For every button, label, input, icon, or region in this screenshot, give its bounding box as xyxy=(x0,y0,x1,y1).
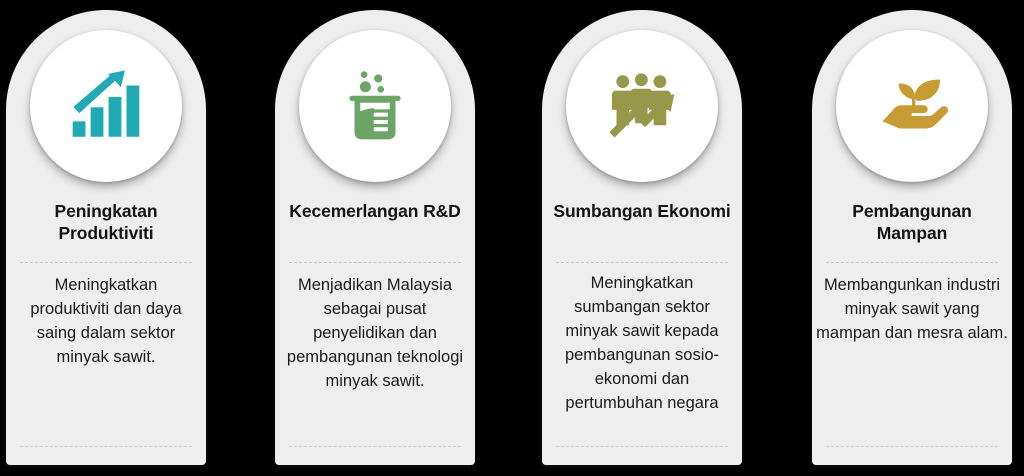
people-growth-arrow-icon xyxy=(601,65,683,147)
footer-divider xyxy=(289,446,461,447)
card-description: Meningkatkan sumbangan sektor minyak saw… xyxy=(546,272,738,416)
card-title: Kecemerlangan R&D xyxy=(275,200,475,222)
footer-divider xyxy=(556,446,728,447)
title-divider xyxy=(556,262,728,263)
bar-chart-growth-icon xyxy=(65,65,147,147)
card-description: Menjadikan Malaysia sebagai pusat penyel… xyxy=(283,274,467,394)
card-content: Sumbangan Ekonomi Meningkatkan sumbangan… xyxy=(542,10,742,465)
card-title: Sumbangan Ekonomi xyxy=(542,200,742,222)
card-content: Pembangunan Mampan Membangunkan industri… xyxy=(812,10,1012,465)
icon-circle-wrapper xyxy=(299,30,451,182)
icon-circle xyxy=(30,30,182,182)
icon-circle xyxy=(566,30,718,182)
icon-circle-wrapper xyxy=(836,30,988,182)
icon-circle-wrapper xyxy=(566,30,718,182)
info-card-kecemerlangan-rnd[interactable]: Kecemerlangan R&D Menjadikan Malaysia se… xyxy=(275,10,475,465)
info-card-pembangunan-mampan[interactable]: Pembangunan Mampan Membangunkan industri… xyxy=(812,10,1012,465)
card-title: Pembangunan Mampan xyxy=(812,200,1012,245)
title-divider xyxy=(826,262,998,263)
infographic-canvas: Peningkatan Produktiviti Meningkatkan pr… xyxy=(0,0,1024,476)
card-title: Peningkatan Produktiviti xyxy=(6,200,206,245)
card-content: Peningkatan Produktiviti Meningkatkan pr… xyxy=(6,10,206,465)
icon-circle xyxy=(836,30,988,182)
title-divider xyxy=(289,262,461,263)
info-card-peningkatan-produktiviti[interactable]: Peningkatan Produktiviti Meningkatkan pr… xyxy=(6,10,206,465)
footer-divider xyxy=(826,446,998,447)
icon-circle xyxy=(299,30,451,182)
info-card-sumbangan-ekonomi[interactable]: Sumbangan Ekonomi Meningkatkan sumbangan… xyxy=(542,10,742,465)
footer-divider xyxy=(20,446,192,447)
card-description: Meningkatkan produktiviti dan daya saing… xyxy=(14,274,198,370)
beaker-research-icon xyxy=(334,65,416,147)
icon-circle-wrapper xyxy=(30,30,182,182)
hand-sprout-icon xyxy=(871,65,953,147)
title-divider xyxy=(20,262,192,263)
card-content: Kecemerlangan R&D Menjadikan Malaysia se… xyxy=(275,10,475,465)
card-description: Membangunkan industri minyak sawit yang … xyxy=(816,274,1008,346)
